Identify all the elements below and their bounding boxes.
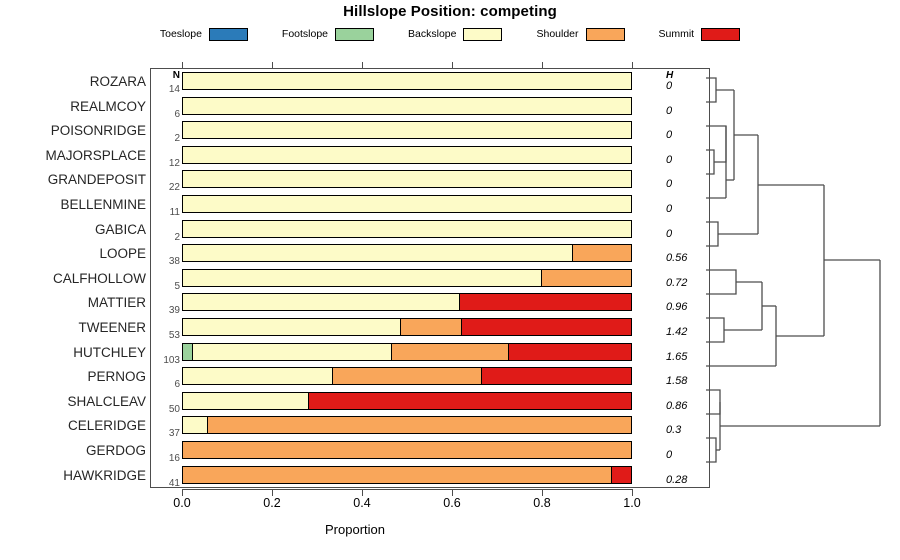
stacked-bar (182, 392, 632, 410)
legend-item-footslope: Footslope (282, 28, 374, 41)
legend-swatch-footslope (335, 28, 374, 41)
axis-tick-label: 0.6 (432, 496, 472, 510)
taxon-label: SHALCLEAV (0, 390, 146, 414)
taxon-label: MAJORSPLACE (0, 144, 146, 168)
legend-item-shoulder: Shoulder (536, 28, 624, 41)
axis-tick-top (452, 62, 453, 68)
axis-tick-label: 0.4 (342, 496, 382, 510)
bar-segment-backslope (183, 98, 631, 114)
n-value: 41 (152, 472, 180, 496)
bar-segment-shoulder (541, 270, 631, 286)
bar-segment-backslope (183, 122, 631, 138)
stacked-bar (182, 220, 632, 238)
bar-segment-summit (461, 319, 631, 335)
bar-segment-backslope (183, 245, 572, 261)
taxon-label: MATTIER (0, 291, 146, 315)
bar-segment-backslope (192, 344, 391, 360)
axis-tick (542, 489, 543, 496)
legend-label: Backslope (408, 28, 456, 40)
taxon-label: LOOPE (0, 242, 146, 266)
legend: ToeslopeFootslopeBackslopeShoulderSummit (0, 24, 900, 44)
taxon-label: HUTCHLEY (0, 341, 146, 365)
bar-segment-backslope (183, 319, 400, 335)
axis-tick (452, 489, 453, 496)
bar-segment-backslope (183, 221, 631, 237)
bar-segment-backslope (183, 73, 631, 89)
stacked-bar (182, 72, 632, 90)
legend-label: Footslope (282, 28, 328, 40)
taxon-label: REALMCOY (0, 95, 146, 119)
taxon-label: PERNOG (0, 365, 146, 389)
taxon-label: GABICA (0, 218, 146, 242)
bar-segment-shoulder (572, 245, 631, 261)
bar-segment-summit (308, 393, 631, 409)
stacked-bar (182, 466, 632, 484)
axis-tick-top (182, 62, 183, 68)
taxon-label: ROZARA (0, 70, 146, 94)
stacked-bar (182, 343, 632, 361)
legend-item-backslope: Backslope (408, 28, 502, 41)
stacked-bar (182, 244, 632, 262)
stacked-bar (182, 269, 632, 287)
x-axis-title: Proportion (0, 522, 710, 537)
axis-tick-label: 0.8 (522, 496, 562, 510)
taxon-label: CALFHOLLOW (0, 267, 146, 291)
legend-swatch-summit (701, 28, 740, 41)
bar-segment-backslope (183, 171, 631, 187)
stacked-bar (182, 416, 632, 434)
taxon-label: BELLENMINE (0, 193, 146, 217)
chart-root: Hillslope Position: competing ToeslopeFo… (0, 0, 900, 560)
bar-segment-shoulder (183, 467, 611, 483)
stacked-bar (182, 195, 632, 213)
bar-segment-shoulder (207, 417, 631, 433)
page-title: Hillslope Position: competing (0, 3, 900, 20)
stacked-bar (182, 367, 632, 385)
stacked-bar (182, 441, 632, 459)
legend-swatch-shoulder (586, 28, 625, 41)
bar-segment-footslope (183, 344, 192, 360)
bar-segment-backslope (183, 368, 332, 384)
legend-item-summit: Summit (659, 28, 741, 41)
axis-tick-label: 1.0 (612, 496, 652, 510)
axis-tick-top (272, 62, 273, 68)
stacked-bar (182, 170, 632, 188)
bar-segment-backslope (183, 270, 541, 286)
bar-segment-backslope (183, 294, 459, 310)
stacked-bar (182, 121, 632, 139)
axis-tick-top (632, 62, 633, 68)
stacked-bar (182, 318, 632, 336)
bar-segment-backslope (183, 196, 631, 212)
axis-tick-label: 0.2 (252, 496, 292, 510)
bar-segment-summit (481, 368, 631, 384)
bar-segment-shoulder (332, 368, 481, 384)
taxon-label: POISONRIDGE (0, 119, 146, 143)
axis-tick-label: 0.0 (162, 496, 202, 510)
axis-line (182, 489, 632, 490)
taxon-label: HAWKRIDGE (0, 464, 146, 488)
bar-segment-summit (459, 294, 631, 310)
legend-label: Summit (659, 28, 695, 40)
taxon-label: GERDOG (0, 439, 146, 463)
taxon-label: TWEENER (0, 316, 146, 340)
bar-segment-summit (611, 467, 631, 483)
bar-segment-summit (508, 344, 631, 360)
axis-tick (632, 489, 633, 496)
taxon-label: CELERIDGE (0, 414, 146, 438)
axis-tick-top (362, 62, 363, 68)
bar-segment-backslope (183, 417, 207, 433)
dendrogram (706, 60, 896, 490)
bar-segment-backslope (183, 393, 308, 409)
h-value: 0.28 (666, 468, 706, 492)
legend-item-toeslope: Toeslope (160, 28, 248, 41)
bar-segment-shoulder (183, 442, 631, 458)
legend-swatch-toeslope (209, 28, 248, 41)
bar-segment-backslope (183, 147, 631, 163)
axis-tick-top (542, 62, 543, 68)
stacked-bar (182, 293, 632, 311)
bar-segment-shoulder (391, 344, 507, 360)
legend-swatch-backslope (463, 28, 502, 41)
stacked-bar (182, 146, 632, 164)
axis-tick (362, 489, 363, 496)
legend-label: Toeslope (160, 28, 202, 40)
taxon-label: GRANDEPOSIT (0, 168, 146, 192)
stacked-bar (182, 97, 632, 115)
axis-tick (272, 489, 273, 496)
legend-label: Shoulder (536, 28, 578, 40)
axis-tick (182, 489, 183, 496)
bar-segment-shoulder (400, 319, 460, 335)
